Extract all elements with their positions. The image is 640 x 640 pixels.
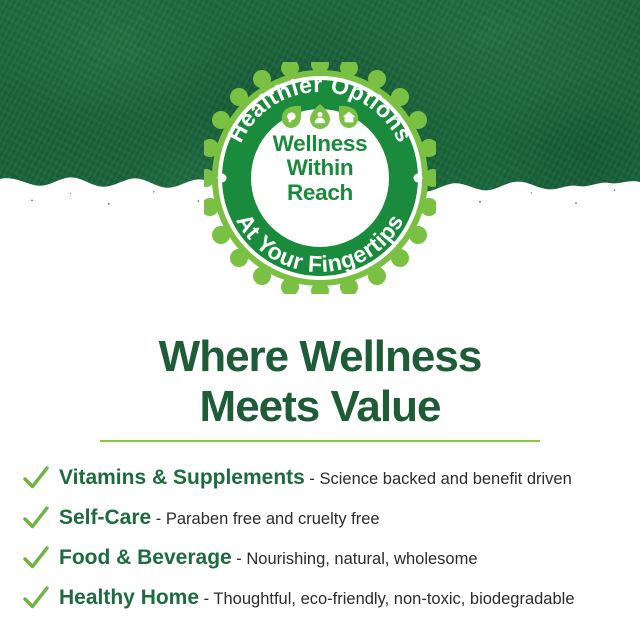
feature-title: Self-Care bbox=[59, 506, 151, 529]
check-icon bbox=[22, 544, 50, 572]
list-item: Vitamins & Supplements - Science backed … bbox=[22, 458, 628, 498]
feature-text: Food & Beverage - Nourishing, natural, w… bbox=[59, 538, 478, 580]
list-item: Food & Beverage - Nourishing, natural, w… bbox=[22, 538, 628, 578]
wellness-badge: Healthier Options At Your Fingertips bbox=[204, 62, 436, 294]
feature-separator: - bbox=[199, 590, 213, 608]
feature-text: Vitamins & Supplements - Science backed … bbox=[59, 458, 572, 500]
feature-separator: - bbox=[232, 550, 247, 568]
page-title: Where Wellness Meets Value bbox=[0, 332, 640, 432]
badge-center-line-3: Reach bbox=[204, 181, 436, 205]
check-icon bbox=[22, 464, 50, 492]
headline-line-2: Meets Value bbox=[0, 382, 640, 432]
divider bbox=[100, 440, 540, 442]
leaf-house-icon bbox=[338, 104, 360, 129]
check-icon bbox=[22, 584, 50, 612]
feature-description: Thoughtful, eco-friendly, non-toxic, bio… bbox=[213, 590, 574, 608]
list-item: Healthy Home - Thoughtful, eco-friendly,… bbox=[22, 578, 628, 618]
badge-center-line-2: Within bbox=[204, 156, 436, 180]
badge-icon-row bbox=[204, 104, 436, 130]
feature-list: Vitamins & Supplements - Science backed … bbox=[22, 458, 628, 618]
feature-text: Healthy Home - Thoughtful, eco-friendly,… bbox=[59, 578, 575, 620]
leaf-face-icon bbox=[280, 104, 302, 129]
feature-separator: - bbox=[151, 510, 166, 528]
leaf-person-icon bbox=[309, 104, 331, 129]
badge-center-line-1: Wellness bbox=[204, 132, 436, 156]
feature-text: Self-Care - Paraben free and cruelty fre… bbox=[59, 498, 380, 540]
feature-separator: - bbox=[305, 470, 320, 488]
promo-banner-page: Healthier Options At Your Fingertips bbox=[0, 0, 640, 640]
feature-title: Healthy Home bbox=[59, 586, 199, 609]
feature-description: Nourishing, natural, wholesome bbox=[246, 550, 477, 568]
feature-description: Paraben free and cruelty free bbox=[166, 510, 380, 528]
badge-center-text: Wellness Within Reach bbox=[204, 132, 436, 205]
check-icon bbox=[22, 504, 50, 532]
list-item: Self-Care - Paraben free and cruelty fre… bbox=[22, 498, 628, 538]
feature-title: Vitamins & Supplements bbox=[59, 466, 305, 489]
feature-title: Food & Beverage bbox=[59, 546, 232, 569]
feature-description: Science backed and benefit driven bbox=[320, 470, 572, 488]
headline-line-1: Where Wellness bbox=[0, 332, 640, 382]
